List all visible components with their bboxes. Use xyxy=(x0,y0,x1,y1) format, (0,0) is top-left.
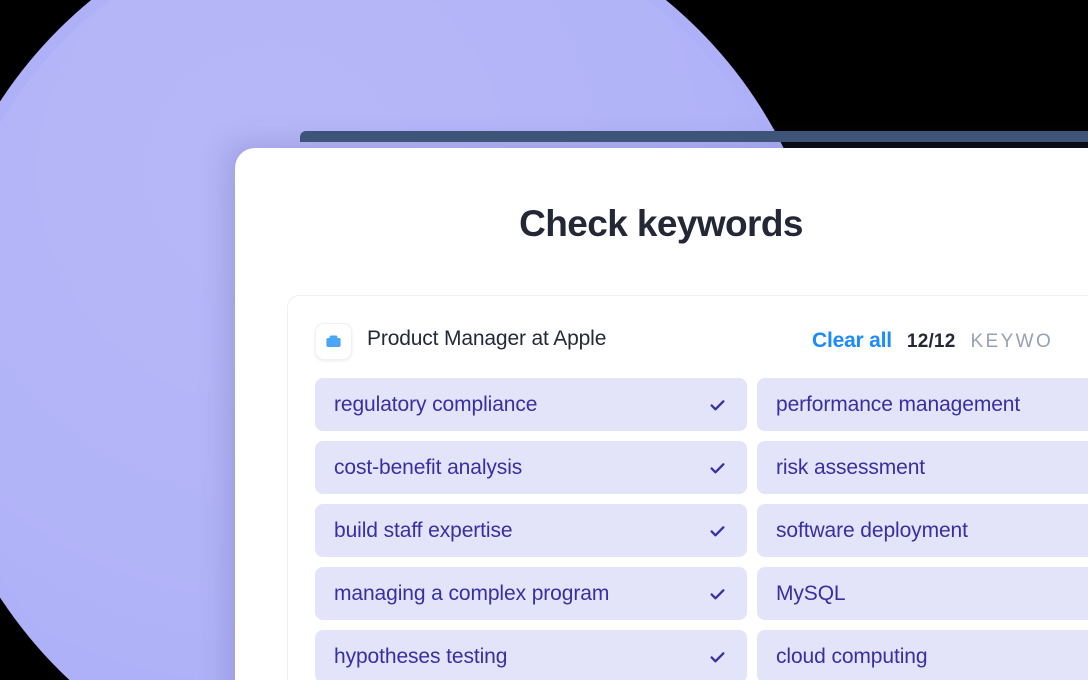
panel-header-actions: Clear all 12/12 KEYWO xyxy=(812,329,1053,353)
keyword-column-left: regulatory compliancecost-benefit analys… xyxy=(315,378,747,680)
keyword-chip-label: risk assessment xyxy=(776,456,925,480)
keyword-chip-label: regulatory compliance xyxy=(334,393,537,417)
clear-all-button[interactable]: Clear all xyxy=(812,329,892,353)
keyword-chip-label: managing a complex program xyxy=(334,582,609,606)
job-title-label: Product Manager at Apple xyxy=(367,327,606,351)
keyword-column-right: performance managementrisk assessmentsof… xyxy=(757,378,1088,680)
panel-header: Product Manager at Apple Clear all 12/12… xyxy=(288,296,1088,378)
screenshot-stage: Check keywords Product Manager at Apple … xyxy=(0,0,1088,680)
keywords-card: Check keywords Product Manager at Apple … xyxy=(235,148,1088,680)
keyword-chip[interactable]: software deployment xyxy=(757,504,1088,557)
keyword-chip[interactable]: cloud computing xyxy=(757,630,1088,680)
keyword-chip[interactable]: cost-benefit analysis xyxy=(315,441,747,494)
keyword-chip-label: hypotheses testing xyxy=(334,645,507,669)
page-title: Check keywords xyxy=(235,203,1087,245)
keyword-chip-label: software deployment xyxy=(776,519,968,543)
keyword-chip[interactable]: hypotheses testing xyxy=(315,630,747,680)
keyword-chip-label: cost-benefit analysis xyxy=(334,456,522,480)
keyword-columns: regulatory compliancecost-benefit analys… xyxy=(315,378,1088,680)
keyword-chip[interactable]: managing a complex program xyxy=(315,567,747,620)
keyword-chip-label: cloud computing xyxy=(776,645,927,669)
keyword-chip[interactable]: risk assessment xyxy=(757,441,1088,494)
keyword-chip-label: build staff expertise xyxy=(334,519,512,543)
keyword-chip-label: MySQL xyxy=(776,582,846,606)
keywords-column-label: KEYWO xyxy=(970,331,1053,353)
card-top-accent-strip xyxy=(300,131,1088,142)
keywords-panel: Product Manager at Apple Clear all 12/12… xyxy=(287,295,1088,680)
briefcase-icon xyxy=(315,323,352,360)
keyword-chip[interactable]: build staff expertise xyxy=(315,504,747,557)
keyword-chip[interactable]: performance management xyxy=(757,378,1088,431)
keyword-chip-label: performance management xyxy=(776,393,1020,417)
keyword-count: 12/12 xyxy=(907,331,956,353)
keyword-chip[interactable]: regulatory compliance xyxy=(315,378,747,431)
keyword-chip[interactable]: MySQL xyxy=(757,567,1088,620)
